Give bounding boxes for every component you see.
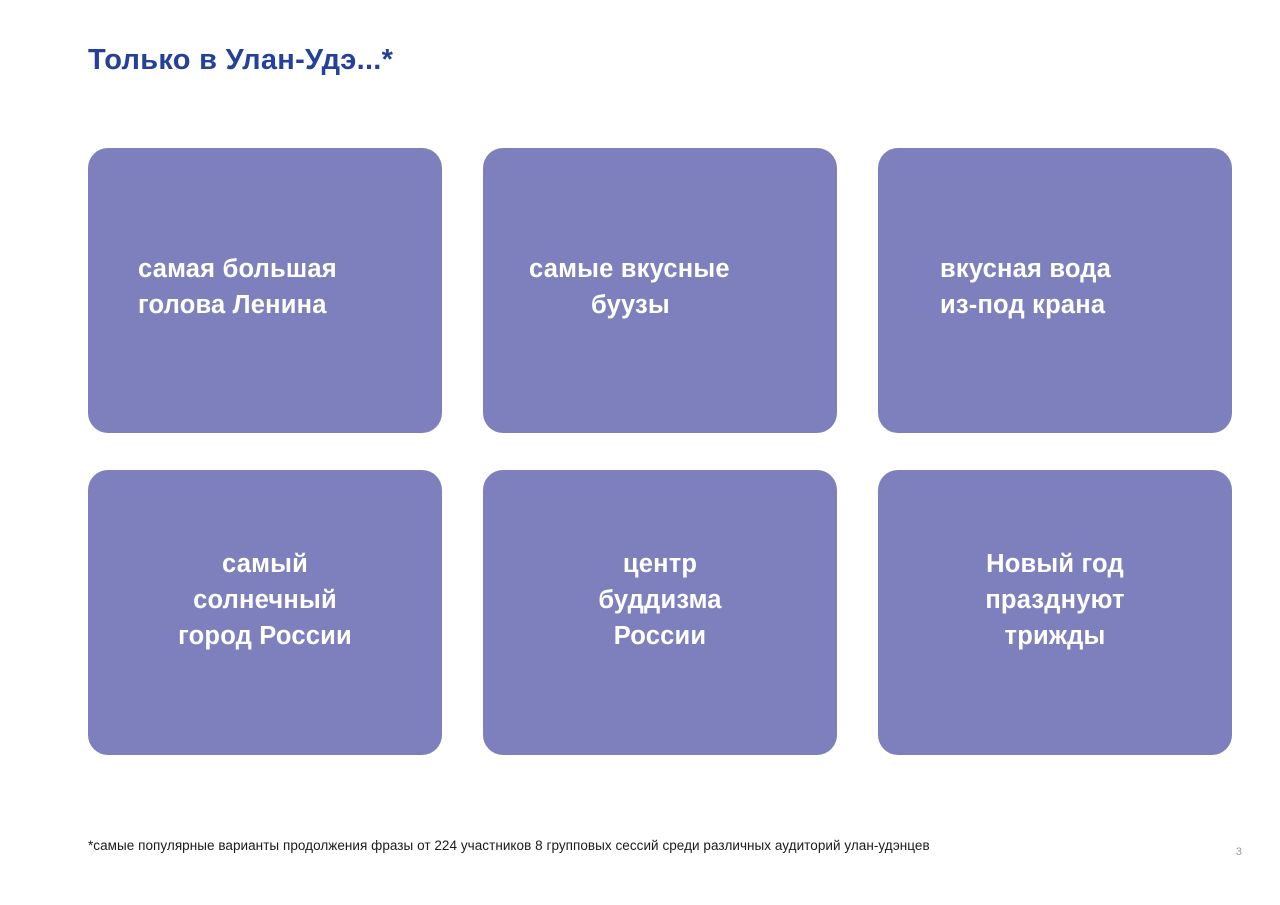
footnote: *самые популярные варианты продолжения ф…: [88, 838, 930, 853]
card-tsentr-buddizma-rossii[interactable]: центр буддизма России: [483, 470, 837, 755]
card-label: самый солнечный город России: [88, 546, 442, 654]
card-vkusnaya-voda-iz-pod-krana[interactable]: вкусная вода из-под крана: [878, 148, 1232, 433]
card-samye-vkusnye-buuzy[interactable]: самые вкусныебуузы: [483, 148, 837, 433]
slide-canvas: Только в Улан-Удэ...* самая большая голо…: [0, 0, 1280, 905]
card-label: самые вкусныебуузы: [483, 251, 837, 323]
page-number: 3: [1236, 846, 1242, 858]
page-title: Только в Улан-Удэ...*: [88, 44, 393, 77]
card-label: самая большая голова Ленина: [88, 251, 442, 323]
card-label-line-1: самые вкусные: [529, 255, 730, 283]
card-samaya-bolshaya-golova-lenina[interactable]: самая большая голова Ленина: [88, 148, 442, 433]
card-novyi-god-prazdnuyut-trizhdy[interactable]: Новый год празднуют трижды: [878, 470, 1232, 755]
card-label: вкусная вода из-под крана: [878, 251, 1232, 323]
card-label-line-2: буузы: [529, 287, 821, 323]
card-grid: самая большая голова Ленина самые вкусны…: [88, 148, 1232, 752]
card-label: Новый год празднуют трижды: [878, 546, 1232, 654]
card-samyi-solnechnyi-gorod-rossii[interactable]: самый солнечный город России: [88, 470, 442, 755]
card-label: центр буддизма России: [483, 546, 837, 654]
